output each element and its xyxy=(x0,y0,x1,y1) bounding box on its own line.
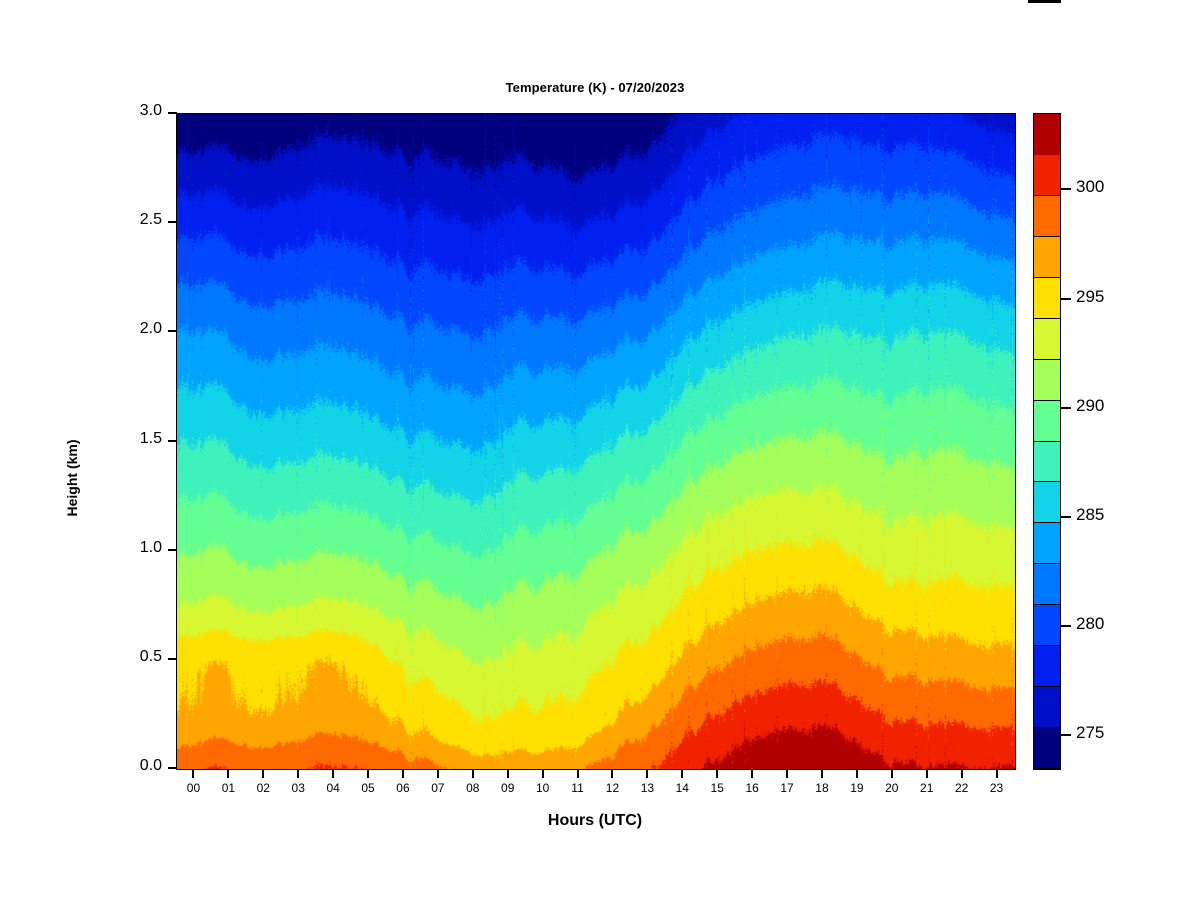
colorbar-block xyxy=(1034,523,1060,564)
x-tick-mark xyxy=(681,769,683,778)
colorbar-tick-mark xyxy=(1061,298,1071,300)
colorbar xyxy=(1033,113,1061,770)
colorbar-block xyxy=(1034,482,1060,523)
top-edge-artifact-bar xyxy=(1028,0,1061,3)
x-tick-mark xyxy=(262,769,264,778)
colorbar-tick-mark xyxy=(1061,734,1071,736)
y-tick-mark xyxy=(168,767,177,769)
colorbar-block xyxy=(1034,605,1060,646)
x-tick-mark xyxy=(192,769,194,778)
x-tick-mark xyxy=(926,769,928,778)
colorbar-tick-mark xyxy=(1061,407,1071,409)
y-tick-label: 0.0 xyxy=(108,757,162,775)
x-tick-mark xyxy=(961,769,963,778)
colorbar-tick-label: 280 xyxy=(1076,614,1104,634)
y-axis-label: Height (km) xyxy=(64,398,80,558)
x-tick-mark xyxy=(751,769,753,778)
y-tick-label: 1.0 xyxy=(108,539,162,557)
colorbar-block xyxy=(1034,155,1060,196)
x-tick-mark xyxy=(227,769,229,778)
y-tick-label: 2.0 xyxy=(108,320,162,338)
x-tick-mark xyxy=(402,769,404,778)
x-tick-label: 23 xyxy=(975,781,1019,795)
x-tick-mark xyxy=(646,769,648,778)
colorbar-block xyxy=(1034,442,1060,483)
colorbar-tick-mark xyxy=(1061,516,1071,518)
x-tick-mark xyxy=(472,769,474,778)
x-tick-mark xyxy=(367,769,369,778)
y-tick-mark xyxy=(168,330,177,332)
colorbar-tick-label: 275 xyxy=(1076,723,1104,743)
y-tick-mark xyxy=(168,112,177,114)
plot-area xyxy=(176,113,1016,770)
x-tick-mark xyxy=(611,769,613,778)
y-tick-mark xyxy=(168,658,177,660)
colorbar-tick-label: 295 xyxy=(1076,287,1104,307)
x-tick-mark xyxy=(786,769,788,778)
y-tick-mark xyxy=(168,221,177,223)
colorbar-block xyxy=(1034,564,1060,605)
x-tick-mark xyxy=(891,769,893,778)
colorbar-block xyxy=(1034,401,1060,442)
colorbar-block xyxy=(1034,278,1060,319)
x-tick-mark xyxy=(542,769,544,778)
colorbar-tick-mark xyxy=(1061,625,1071,627)
colorbar-block xyxy=(1034,728,1060,769)
colorbar-tick-label: 300 xyxy=(1076,177,1104,197)
temperature-time-height-figure: Temperature (K) - 07/20/2023 Height (km)… xyxy=(0,0,1200,900)
y-tick-label: 1.5 xyxy=(108,430,162,448)
colorbar-tick-label: 285 xyxy=(1076,505,1104,525)
y-tick-label: 2.5 xyxy=(108,211,162,229)
x-tick-mark xyxy=(297,769,299,778)
page-title: Temperature (K) - 07/20/2023 xyxy=(176,80,1014,95)
x-tick-mark xyxy=(716,769,718,778)
x-tick-mark xyxy=(821,769,823,778)
y-tick-label: 3.0 xyxy=(108,102,162,120)
y-tick-label: 0.5 xyxy=(108,648,162,666)
x-axis-label: Hours (UTC) xyxy=(176,812,1014,830)
colorbar-block xyxy=(1034,319,1060,360)
y-tick-mark xyxy=(168,549,177,551)
colorbar-block xyxy=(1034,687,1060,728)
y-tick-mark xyxy=(168,440,177,442)
colorbar-block xyxy=(1034,237,1060,278)
colorbar-block xyxy=(1034,360,1060,401)
colorbar-tick-label: 290 xyxy=(1076,396,1104,416)
temperature-heatmap-canvas xyxy=(177,114,1015,769)
colorbar-tick-mark xyxy=(1061,188,1071,190)
x-tick-mark xyxy=(856,769,858,778)
x-tick-mark xyxy=(577,769,579,778)
x-tick-mark xyxy=(996,769,998,778)
x-tick-mark xyxy=(332,769,334,778)
x-tick-mark xyxy=(437,769,439,778)
x-tick-mark xyxy=(507,769,509,778)
colorbar-block xyxy=(1034,114,1060,155)
colorbar-block xyxy=(1034,646,1060,687)
colorbar-block xyxy=(1034,196,1060,237)
